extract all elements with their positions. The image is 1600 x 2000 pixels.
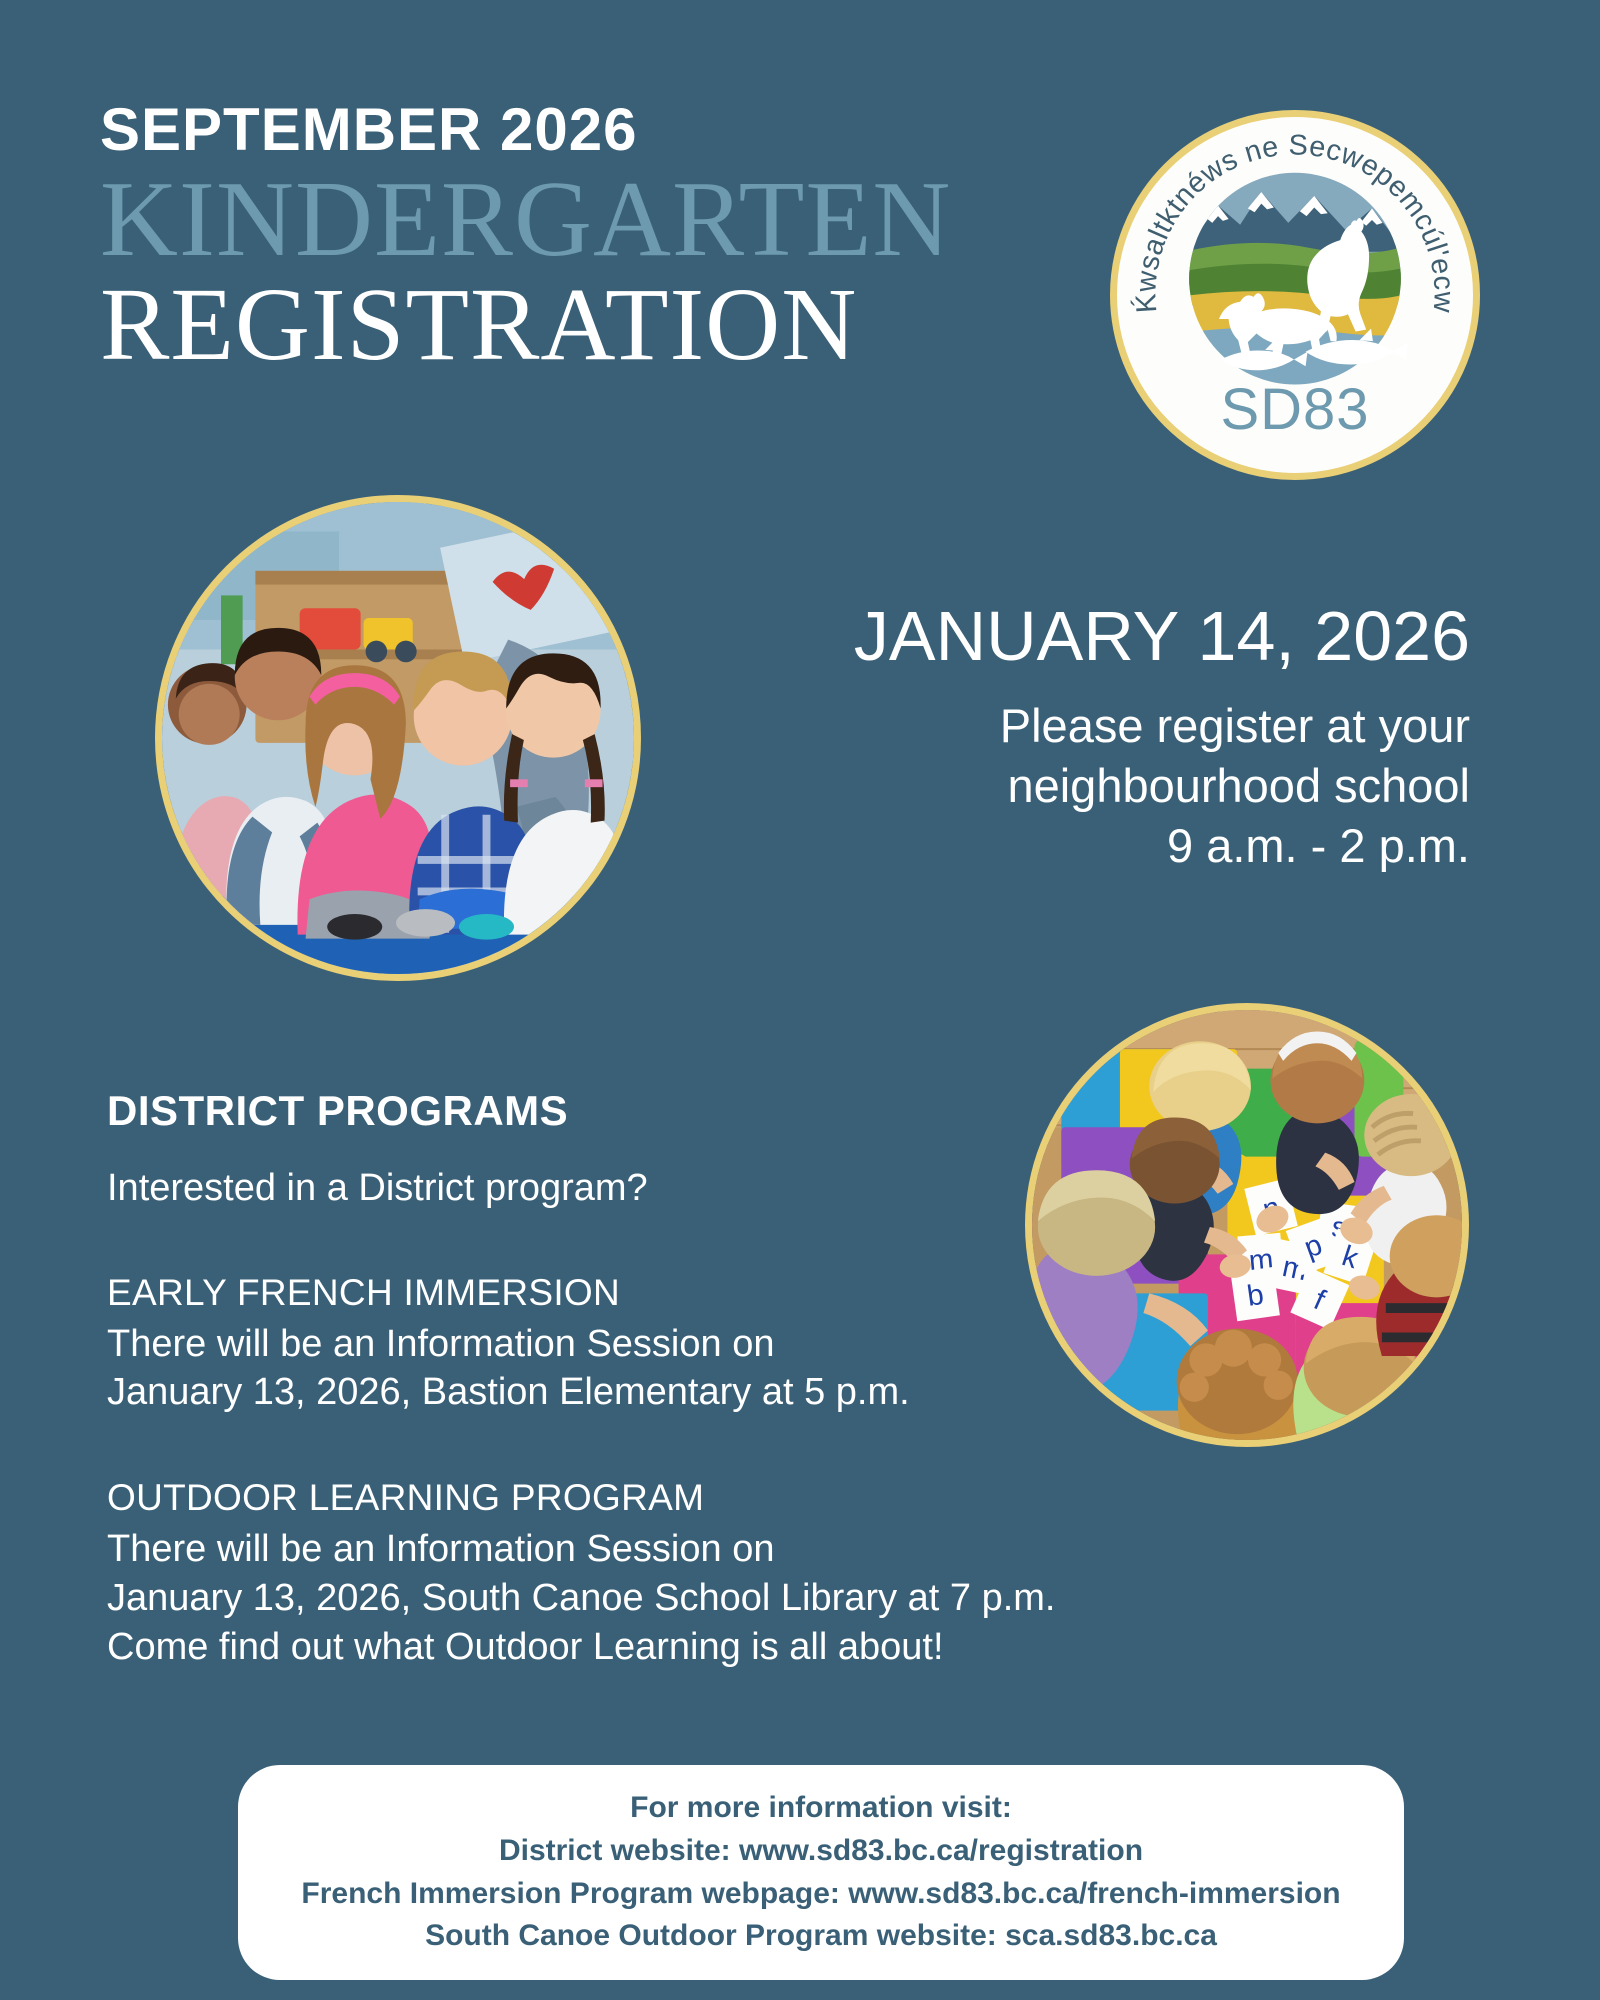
program-detail-line: There will be an Information Session on <box>107 1320 1107 1369</box>
program-name: OUTDOOR LEARNING PROGRAM <box>107 1475 1107 1521</box>
registration-date: JANUARY 14, 2026 <box>790 600 1470 674</box>
program-outdoor-learning: OUTDOOR LEARNING PROGRAM There will be a… <box>107 1475 1107 1671</box>
registration-date-block: JANUARY 14, 2026 Please register at your… <box>790 600 1470 876</box>
instruction-line-1: Please register at your <box>790 696 1470 756</box>
program-name: EARLY FRENCH IMMERSION <box>107 1270 1107 1316</box>
classroom-children-photo <box>155 495 641 981</box>
more-information-box: For more information visit: District web… <box>238 1765 1404 1980</box>
district-programs-intro: Interested in a District program? <box>107 1166 1107 1212</box>
program-detail-line: January 13, 2026, South Canoe School Lib… <box>107 1574 1107 1623</box>
instruction-line-2: neighbourhood school <box>790 756 1470 816</box>
program-detail-line: There will be an Information Session on <box>107 1525 1107 1574</box>
district-programs-heading: DISTRICT PROGRAMS <box>107 1090 1107 1132</box>
info-heading: For more information visit: <box>630 1787 1012 1830</box>
kindergarten-registration-poster: SEPTEMBER 2026 KINDERGARTEN REGISTRATION… <box>0 0 1600 2000</box>
district-website-link[interactable]: District website: www.sd83.bc.ca/registr… <box>499 1830 1143 1873</box>
poster-title-block: SEPTEMBER 2026 KINDERGARTEN REGISTRATION <box>100 100 1100 379</box>
program-detail-line: January 13, 2026, Bastion Elementary at … <box>107 1368 1107 1417</box>
program-detail-line: Come find out what Outdoor Learning is a… <box>107 1623 1107 1672</box>
registration-hours: 9 a.m. - 2 p.m. <box>790 816 1470 876</box>
french-immersion-website-link[interactable]: French Immersion Program webpage: www.sd… <box>301 1873 1340 1916</box>
registration-instructions: Please register at your neighbourhood sc… <box>790 696 1470 876</box>
program-spacer <box>107 1417 1107 1475</box>
child-figure <box>1177 1329 1298 1440</box>
logo-district-code: SD83 <box>1117 381 1473 439</box>
sd83-logo: Ḱwsaltktnéws ne Secwepemcúl'ecw <box>1110 110 1480 480</box>
program-early-french-immersion: EARLY FRENCH IMMERSION There will be an … <box>107 1270 1107 1418</box>
district-programs-section: DISTRICT PROGRAMS Interested in a Distri… <box>107 1090 1107 1671</box>
kindergarten-heading: KINDERGARTEN <box>100 166 1100 274</box>
south-canoe-website-link[interactable]: South Canoe Outdoor Program website: sca… <box>425 1915 1217 1958</box>
registration-heading: REGISTRATION <box>100 270 1100 379</box>
month-year-heading: SEPTEMBER 2026 <box>100 100 1100 160</box>
